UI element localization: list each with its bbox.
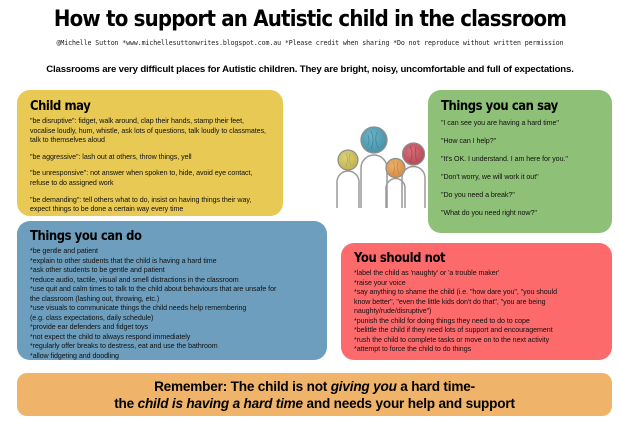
banner-line2-a: the bbox=[114, 396, 137, 411]
remember-banner: Remember: The child is not giving you a … bbox=[17, 373, 612, 416]
card-things-you-can-say: Things you can say "I can see you are ha… bbox=[428, 90, 612, 233]
infographic-page: How to support an Autistic child in the … bbox=[0, 0, 620, 431]
can-say-item: "Don't worry, we will work it out" bbox=[441, 173, 600, 183]
can-do-item: *use visuals to communicate things the c… bbox=[30, 304, 317, 314]
four-people-figures-illustration bbox=[336, 116, 426, 208]
child-may-item: "be unresponsive": not answer when spoke… bbox=[30, 169, 271, 188]
child-may-item: "be demanding": tell others what to do, … bbox=[30, 196, 271, 215]
banner-line1-emphasis: giving you bbox=[331, 379, 397, 394]
subtitle-text: Classrooms are very difficult places for… bbox=[0, 64, 620, 75]
should-not-item: *belittle the child if they need lots of… bbox=[354, 326, 602, 336]
card-can-say-heading: Things you can say bbox=[441, 98, 578, 114]
card-child-may-body: "be disruptive": fidget, walk around, cl… bbox=[30, 117, 271, 215]
can-say-item: "How can I help?" bbox=[441, 137, 600, 147]
should-not-item: naughty/rude/disruptive") bbox=[354, 307, 602, 317]
can-do-item: (e.g. class expectations, daily schedule… bbox=[30, 314, 317, 324]
figure-olive-icon bbox=[337, 150, 359, 208]
banner-line2-emphasis: child is having a hard time bbox=[138, 396, 303, 411]
can-do-item: *not expect the child to always respond … bbox=[30, 333, 317, 343]
banner-line1-a: Remember: The child is not bbox=[154, 379, 331, 394]
banner-line-1: Remember: The child is not giving you a … bbox=[154, 378, 475, 395]
card-you-should-not: You should not *label the child as 'naug… bbox=[341, 243, 612, 360]
should-not-item: *raise your voice bbox=[354, 279, 602, 289]
can-do-item: *be gentle and patient bbox=[30, 247, 317, 257]
can-do-item: *ask other students to be gentle and pat… bbox=[30, 266, 317, 276]
should-not-item: know better", "even the little kids don'… bbox=[354, 298, 602, 308]
can-do-item: *provide ear defenders and fidget toys bbox=[30, 323, 317, 333]
card-can-do-body: *be gentle and patient *explain to other… bbox=[30, 247, 317, 360]
can-do-item: *use quit and calm times to talk to the … bbox=[30, 285, 317, 295]
can-do-item: *reduce audio, tactile, visual and smell… bbox=[30, 276, 317, 286]
page-title: How to support an Autistic child in the … bbox=[37, 6, 583, 32]
can-say-item: "It's OK. I understand. I am here for yo… bbox=[441, 155, 600, 165]
banner-line2-b: and needs your help and support bbox=[303, 396, 515, 411]
card-can-say-body: "I can see you are having a hard time" "… bbox=[441, 119, 600, 219]
child-may-item: "be aggressive": lash out at others, thr… bbox=[30, 153, 271, 163]
card-things-you-can-do: Things you can do *be gentle and patient… bbox=[17, 221, 327, 360]
credit-line: @Michelle Sutton *www.michellesuttonwrit… bbox=[0, 39, 620, 47]
can-do-item: *allow fidgeting and doodling bbox=[30, 352, 317, 361]
figure-teal-icon bbox=[361, 127, 387, 208]
card-child-may-heading: Child may bbox=[30, 98, 237, 114]
can-say-item: "I can see you are having a hard time" bbox=[441, 119, 600, 129]
banner-line1-b: a hard time- bbox=[397, 379, 475, 394]
should-not-item: *rush the child to complete tasks or mov… bbox=[354, 336, 602, 346]
can-do-item: the classroom (lashing out, throwing, et… bbox=[30, 295, 317, 305]
card-should-not-body: *label the child as 'naughty' or 'a trou… bbox=[354, 269, 602, 355]
should-not-item: *say anything to shame the child (i.e. "… bbox=[354, 288, 602, 298]
card-child-may: Child may "be disruptive": fidget, walk … bbox=[17, 90, 283, 216]
can-do-item: *explain to other students that the chil… bbox=[30, 257, 317, 267]
card-can-do-heading: Things you can do bbox=[30, 228, 277, 244]
banner-line-2: the child is having a hard time and need… bbox=[114, 395, 515, 412]
can-do-item: *regularly offer breaks to destress, eat… bbox=[30, 342, 317, 352]
can-say-item: "What do you need right now?" bbox=[441, 209, 600, 219]
should-not-item: *punish the child for doing things they … bbox=[354, 317, 602, 327]
child-may-item: "be disruptive": fidget, walk around, cl… bbox=[30, 117, 271, 146]
should-not-item: *attempt to force the child to do things bbox=[354, 345, 602, 355]
can-say-item: "Do you need a break?" bbox=[441, 191, 600, 201]
card-should-not-heading: You should not bbox=[354, 250, 567, 266]
should-not-item: *label the child as 'naughty' or 'a trou… bbox=[354, 269, 602, 279]
